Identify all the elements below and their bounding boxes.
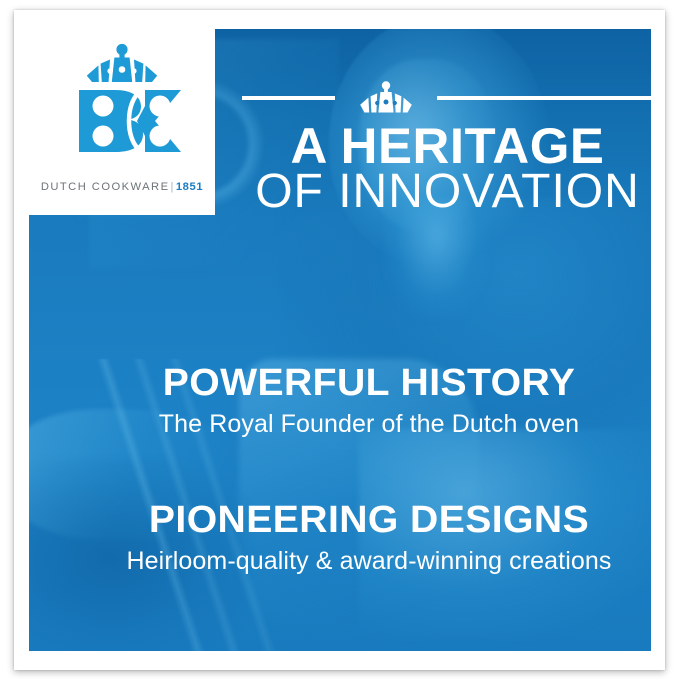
message-title: POWERFUL HISTORY	[49, 364, 651, 402]
header-crown-divider-row	[244, 80, 651, 116]
message-subtitle: The Royal Founder of the Dutch oven	[58, 410, 651, 438]
message-title: PIONEERING DESIGNS	[49, 501, 651, 539]
brand-founding-year: 1851	[176, 181, 203, 193]
logo-crown-icon	[87, 44, 157, 82]
poster-page: A HERITAGE OF INNOVATION POWERFUL HISTOR…	[0, 0, 679, 679]
brand-tagline-text: DUTCH COOKWARE	[41, 181, 170, 193]
poster-header: A HERITAGE OF INNOVATION	[244, 58, 651, 217]
brand-logo-box: DUTCH COOKWARE|1851	[29, 29, 215, 215]
header-divider-right	[437, 96, 651, 100]
message-block-designs: PIONEERING DESIGNS Heirloom-quality & aw…	[58, 501, 651, 575]
brand-tagline: DUTCH COOKWARE|1851	[41, 181, 203, 193]
poster-headline-secondary: OF INNOVATION	[244, 168, 651, 217]
royal-crown-icon	[350, 81, 422, 115]
header-divider-left	[242, 96, 335, 100]
bk-crown-monogram-icon	[57, 42, 187, 170]
logo-bk-letters	[79, 90, 181, 152]
poster-headline-primary: A HERITAGE	[240, 122, 651, 170]
message-block-history: POWERFUL HISTORY The Royal Founder of th…	[58, 364, 651, 438]
message-subtitle: Heirloom-quality & award-winning creatio…	[58, 547, 651, 575]
